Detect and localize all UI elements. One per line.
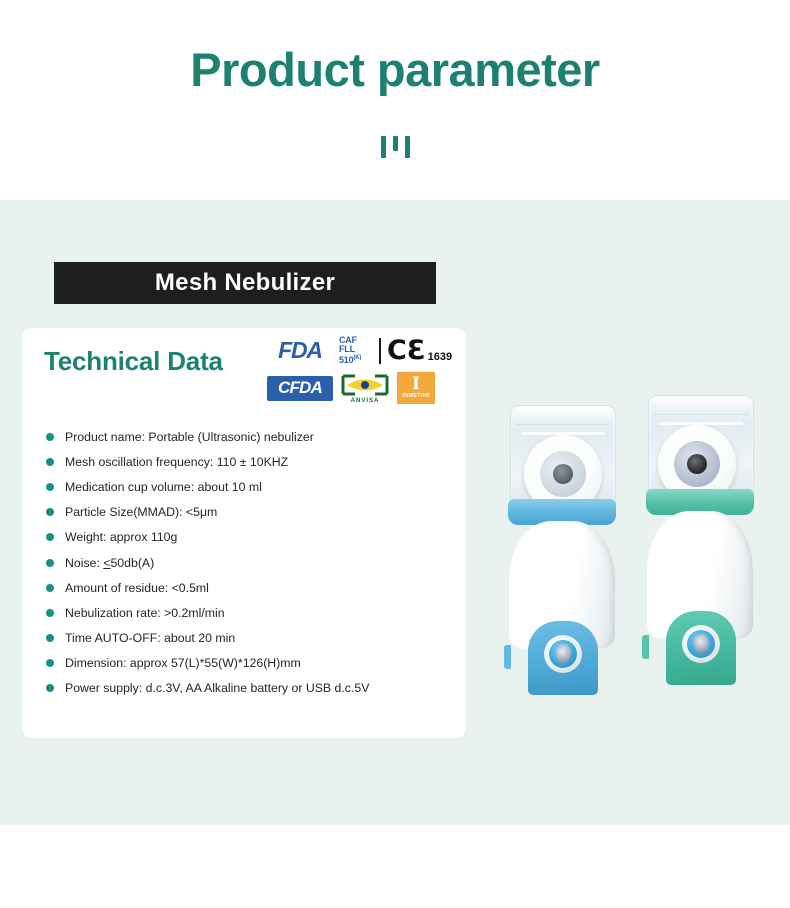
- bullet-icon: [46, 483, 54, 491]
- product-image-nebulizer-green: [640, 385, 760, 695]
- banner-label: Mesh Nebulizer: [155, 269, 335, 297]
- cup-lid: [514, 408, 612, 425]
- cert-divider: [379, 338, 381, 364]
- bullet-icon: [46, 659, 54, 667]
- side-button: [642, 635, 649, 659]
- inmetro-label: INMETRO: [402, 393, 429, 399]
- caf-sup: (K): [353, 355, 361, 361]
- spec-text: Dimension: approx 57(L)*55(W)*126(H)mm: [65, 656, 301, 670]
- list-item: Medication cup volume: about 10 ml: [22, 474, 466, 499]
- spec-text: Nebulization rate: >0.2ml/min: [65, 606, 225, 620]
- spec-text: Product name: Portable (Ultrasonic) nebu…: [65, 430, 314, 444]
- power-button-core: [556, 644, 571, 664]
- list-item: Particle Size(MMAD): <5μm: [22, 500, 466, 525]
- accent-bar-2: [393, 136, 398, 151]
- technical-data-heading: Technical Data: [44, 346, 223, 377]
- spec-text: Mesh oscillation frequency: 110 ± 10KHZ: [65, 455, 288, 469]
- power-button-ring: [549, 640, 577, 668]
- nozzle-ring: [540, 451, 586, 497]
- nozzle-mesh: [687, 454, 707, 474]
- ce-mark-logo-icon: CƐ 1639: [387, 337, 452, 364]
- bullet-icon: [46, 458, 54, 466]
- caf-fll-510k-logo-icon: CAFFLL510(K): [339, 336, 373, 365]
- page-root: Product parameter Mesh Nebulizer Technic…: [0, 0, 790, 908]
- specification-list: Product name: Portable (Ultrasonic) nebu…: [22, 424, 466, 701]
- spec-text: Power supply: d.c.3V, AA Alkaline batter…: [65, 681, 369, 695]
- list-item: Time AUTO-OFF: about 20 min: [22, 626, 466, 651]
- accent-bar-3: [405, 136, 410, 158]
- product-name-banner: Mesh Nebulizer: [54, 262, 436, 304]
- list-item: Amount of residue: <0.5ml: [22, 575, 466, 600]
- accent-bar-1: [381, 136, 386, 158]
- anvisa-glyph: [339, 372, 391, 398]
- power-button: [682, 625, 720, 663]
- list-item: Dimension: approx 57(L)*55(W)*126(H)mm: [22, 651, 466, 676]
- device-base-panel: [528, 621, 598, 695]
- spec-text: Particle Size(MMAD): <5μm: [65, 505, 217, 519]
- bullet-icon: [46, 609, 54, 617]
- ce-notified-body-number: 1639: [428, 351, 452, 364]
- bullet-icon: [46, 584, 54, 592]
- list-item: Mesh oscillation frequency: 110 ± 10KHZ: [22, 449, 466, 474]
- bullet-icon: [46, 634, 54, 642]
- title-accent-bars: [0, 136, 790, 166]
- anvisa-logo-icon: ANVISA: [339, 372, 391, 404]
- cup-lid: [652, 398, 750, 415]
- inmetro-glyph: I: [412, 377, 420, 392]
- nozzle-ring: [674, 441, 720, 487]
- certification-logos: FDA CAFFLL510(K) CƐ 1639 CFDA: [267, 336, 467, 406]
- ce-glyph: CƐ: [387, 337, 426, 364]
- spec-text: Medication cup volume: about 10 ml: [65, 480, 262, 494]
- bullet-icon: [46, 559, 54, 567]
- page-title: Product parameter: [0, 44, 790, 96]
- power-button: [544, 635, 582, 673]
- list-item: Nebulization rate: >0.2ml/min: [22, 600, 466, 625]
- bullet-icon: [46, 533, 54, 541]
- anvisa-label: ANVISA: [339, 398, 391, 404]
- list-item: Weight: approx 110g: [22, 525, 466, 550]
- bullet-icon: [46, 684, 54, 692]
- power-button-ring: [687, 630, 715, 658]
- list-item: Power supply: d.c.3V, AA Alkaline batter…: [22, 676, 466, 701]
- bullet-icon: [46, 508, 54, 516]
- certification-row-top: FDA CAFFLL510(K) CƐ 1639: [267, 336, 452, 365]
- inmetro-logo-icon: I INMETRO: [397, 372, 435, 404]
- fda-logo-icon: FDA: [267, 338, 333, 364]
- list-item: Product name: Portable (Ultrasonic) nebu…: [22, 424, 466, 449]
- bullet-icon: [46, 433, 54, 441]
- spec-text: Amount of residue: <0.5ml: [65, 581, 209, 595]
- nozzle-mesh: [553, 464, 573, 484]
- card-header: Technical Data FDA CAFFLL510(K) CƐ 1639 …: [22, 328, 466, 410]
- list-item: Noise: <50db(A): [22, 550, 466, 575]
- device-base-panel: [666, 611, 736, 685]
- product-images: [480, 385, 790, 715]
- power-button-core: [694, 634, 709, 654]
- noise-prefix: Noise:: [65, 556, 103, 570]
- product-image-nebulizer-blue: [502, 395, 622, 705]
- spec-text-noise: Noise: <50db(A): [65, 556, 154, 570]
- technical-data-card: Technical Data FDA CAFFLL510(K) CƐ 1639 …: [22, 328, 466, 738]
- spec-text: Weight: approx 110g: [65, 530, 177, 544]
- certification-row-bottom: CFDA ANVISA I INMETRO: [267, 372, 435, 404]
- spec-text: Time AUTO-OFF: about 20 min: [65, 631, 235, 645]
- side-button: [504, 645, 511, 669]
- cfda-logo-icon: CFDA: [267, 376, 333, 401]
- page-header: Product parameter: [0, 0, 790, 200]
- noise-suffix: 50db(A): [110, 556, 154, 570]
